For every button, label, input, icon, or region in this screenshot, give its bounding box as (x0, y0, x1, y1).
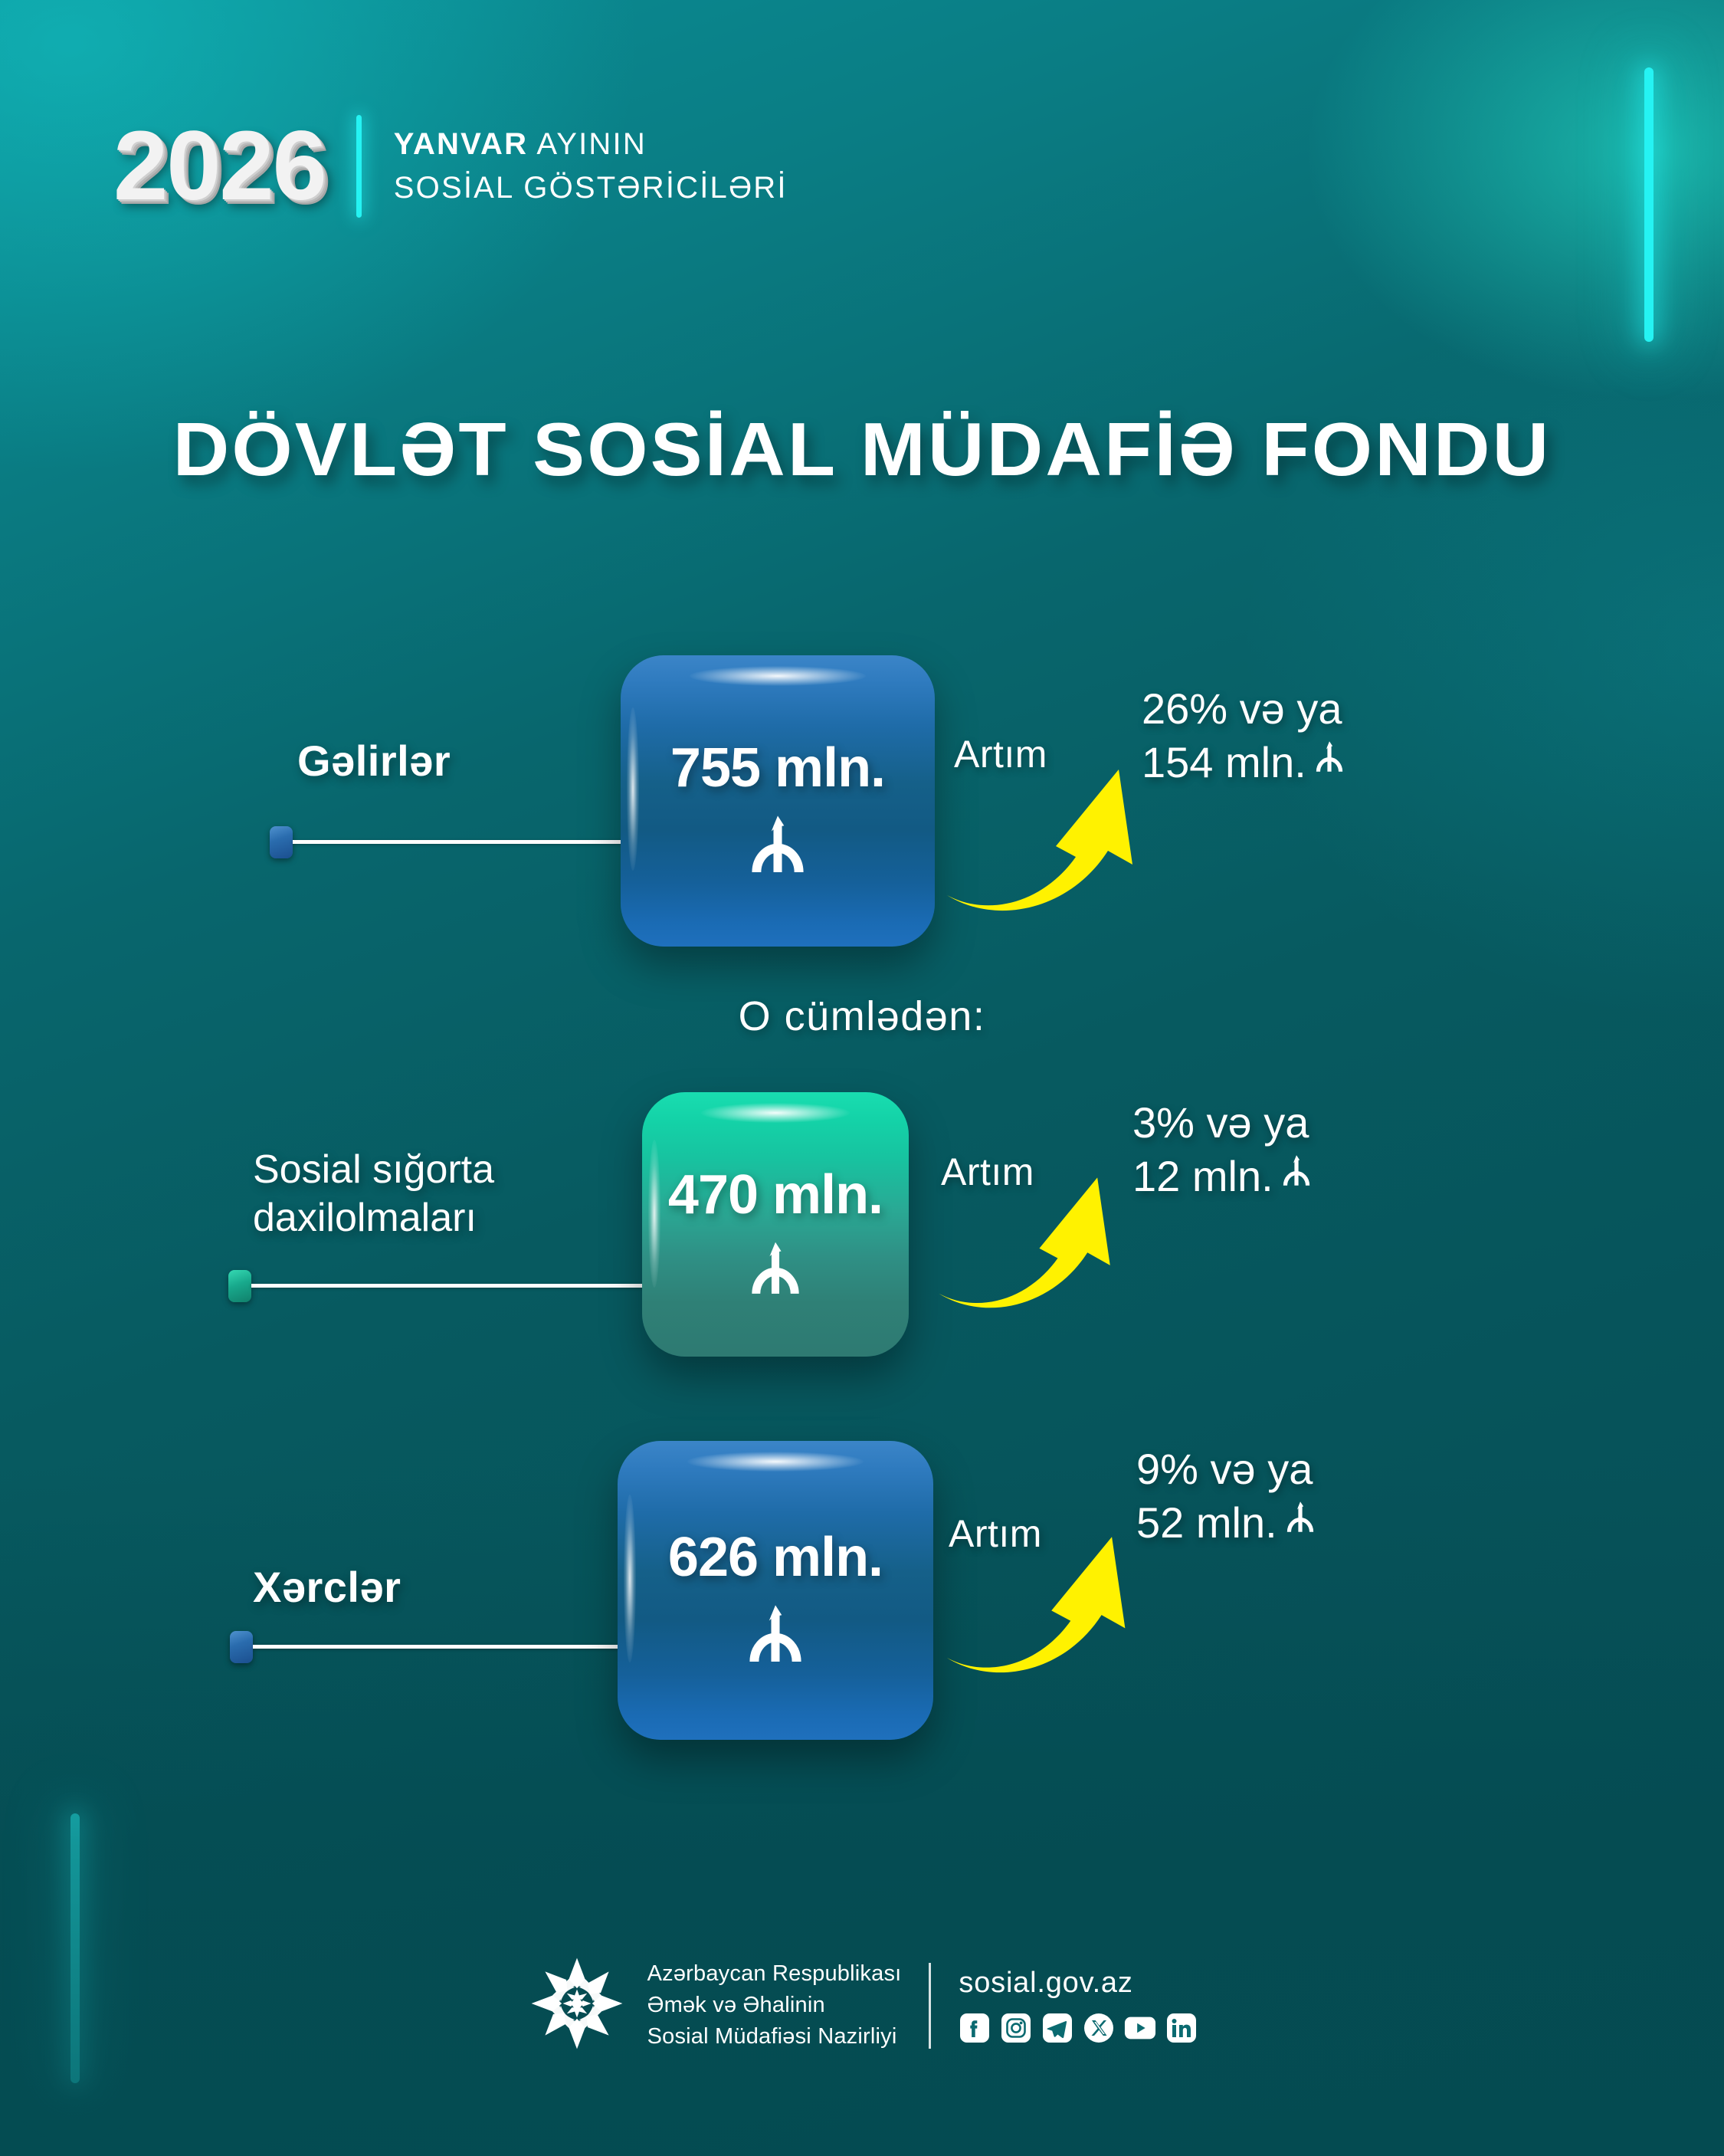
metric-card-xercler: 626 mln. (618, 1441, 933, 1740)
connector-line-xercler (253, 1645, 628, 1649)
manat-icon (740, 1600, 811, 1670)
infographic-poster: 2026 YANVAR AYININ SOSİAL GÖSTƏRİCİLƏRİ … (0, 0, 1724, 2156)
page-title: DÖVLƏT SOSİAL MÜDAFİƏ FONDU (0, 406, 1724, 493)
metric-value-sosial-sigorta: 470 mln. (668, 1163, 883, 1226)
footer: Azərbaycan Respublikası Əmək və Əhalinin… (0, 1953, 1724, 2058)
header-subtitle-line1: YANVAR AYININ (394, 123, 788, 166)
header: 2026 YANVAR AYININ SOSİAL GÖSTƏRİCİLƏRİ (113, 115, 788, 218)
ministry-name: Azərbaycan Respublikası Əmək və Əhalinin… (647, 1958, 902, 2053)
growth-value-gelirler: 26% və ya 154 mln. (1142, 682, 1349, 789)
footer-contact: sosial.gov.az (959, 1967, 1198, 2044)
facebook-icon[interactable] (959, 2012, 991, 2044)
connector-dot-xercler (230, 1631, 253, 1663)
manat-icon (743, 1237, 808, 1301)
x-icon[interactable] (1083, 2012, 1115, 2044)
social-links (959, 2012, 1198, 2044)
connector-line-sosial-sigorta (251, 1284, 650, 1288)
header-subtitle: YANVAR AYININ SOSİAL GÖSTƏRİCİLƏRİ (394, 123, 788, 210)
manat-icon (742, 810, 813, 881)
growth-value-xercler: 9% və ya 52 mln. (1136, 1442, 1320, 1550)
ministry-line-2: Əmək və Əhalinin (647, 1990, 902, 2021)
header-month-suffix: AYININ (528, 127, 647, 161)
year-label: 2026 (113, 117, 356, 215)
subheading: O cümlədən: (0, 993, 1724, 1040)
youtube-icon[interactable] (1124, 2012, 1156, 2044)
website-link[interactable]: sosial.gov.az (959, 1967, 1198, 2000)
growth-amount-gelirler: 154 mln. (1142, 736, 1306, 789)
growth-percent-gelirler: 26% və ya (1142, 682, 1349, 736)
manat-icon (1280, 1496, 1320, 1550)
metric-value-gelirler: 755 mln. (670, 737, 885, 799)
metric-card-gelirler: 755 mln. (621, 655, 935, 947)
connector-dot-sosial-sigorta (228, 1270, 251, 1302)
metric-label-xercler: Xərclər (253, 1562, 401, 1612)
header-subtitle-line2: SOSİAL GÖSTƏRİCİLƏRİ (394, 166, 788, 210)
connector-line-gelirler (293, 840, 630, 844)
metric-card-sosial-sigorta: 470 mln. (642, 1092, 909, 1357)
growth-arrow-icon-xercler (941, 1533, 1132, 1686)
telegram-icon[interactable] (1041, 2012, 1073, 2044)
connector-dot-gelirler (270, 826, 293, 858)
header-month: YANVAR (394, 127, 528, 161)
growth-percent-sosial-sigorta: 3% və ya (1132, 1096, 1316, 1150)
instagram-icon[interactable] (1000, 2012, 1032, 2044)
growth-amount-sosial-sigorta: 12 mln. (1132, 1150, 1273, 1203)
manat-icon (1277, 1150, 1316, 1203)
footer-divider (929, 1963, 931, 2049)
growth-amount-xercler: 52 mln. (1136, 1496, 1277, 1550)
metric-value-xercler: 626 mln. (668, 1526, 883, 1589)
metric-label-sosial-sigorta: Sosial sığorta daxilolmaları (253, 1146, 494, 1243)
linkedin-icon[interactable] (1165, 2012, 1198, 2044)
growth-arrow-icon-gelirler (941, 766, 1140, 924)
growth-arrow-icon-sosial-sigorta (933, 1173, 1117, 1322)
ministry-line-3: Sosial Müdafiəsi Nazirliyi (647, 2021, 902, 2053)
metric-label-gelirler: Gəlirlər (297, 736, 451, 786)
growth-value-sosial-sigorta: 3% və ya 12 mln. (1132, 1096, 1316, 1203)
accent-bar-top-right (1644, 67, 1654, 342)
header-divider (356, 115, 362, 218)
manat-icon (1309, 736, 1349, 789)
growth-percent-xercler: 9% və ya (1136, 1442, 1320, 1496)
ministry-line-1: Azərbaycan Respublikası (647, 1958, 902, 1990)
ministry-star-logo-icon (526, 1953, 628, 2058)
